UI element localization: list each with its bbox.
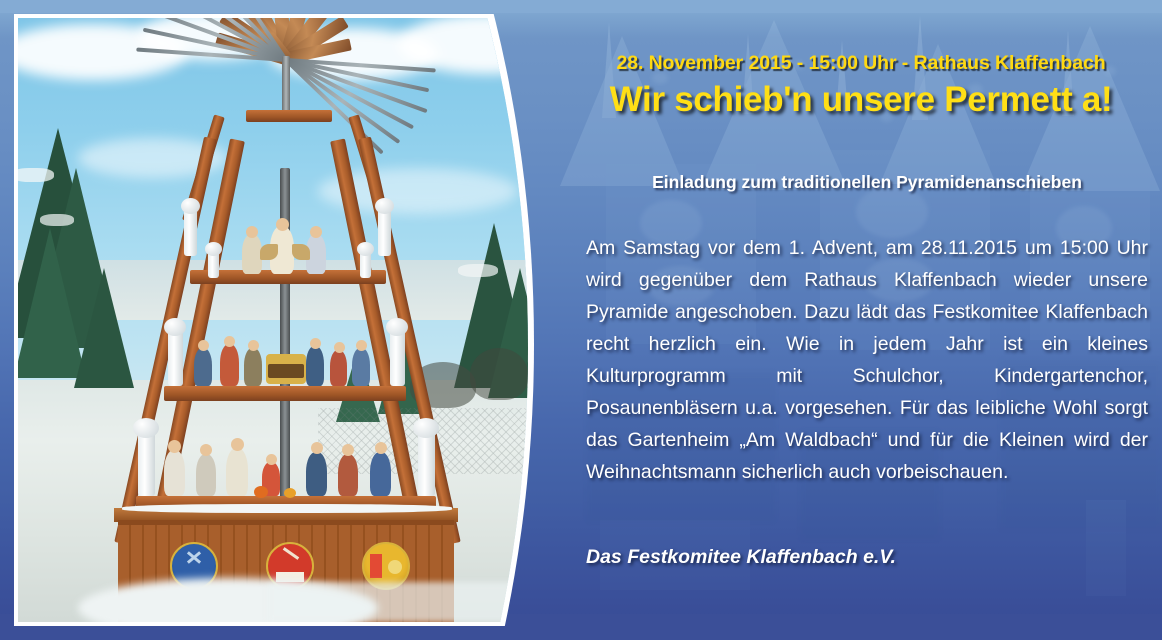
text-content: 28. November 2015 - 15:00 Uhr - Rathaus … <box>576 0 1162 640</box>
event-kicker: 28. November 2015 - 15:00 Uhr - Rathaus … <box>576 52 1146 75</box>
photo-panel <box>0 0 580 640</box>
christmas-pyramid <box>18 18 552 622</box>
page-title: Wir schieb'n unsere Permett a! <box>576 80 1146 120</box>
event-poster: 28. November 2015 - 15:00 Uhr - Rathaus … <box>0 0 1162 640</box>
invitation-body-text: Am Samstag vor dem 1. Advent, am 28.11.2… <box>586 232 1148 488</box>
invitation-subheading: Einladung zum traditionellen Pyramidenan… <box>582 172 1152 193</box>
pyramid-photo <box>18 18 552 622</box>
organiser-signature: Das Festkomitee Klaffenbach e.V. <box>586 546 1148 569</box>
